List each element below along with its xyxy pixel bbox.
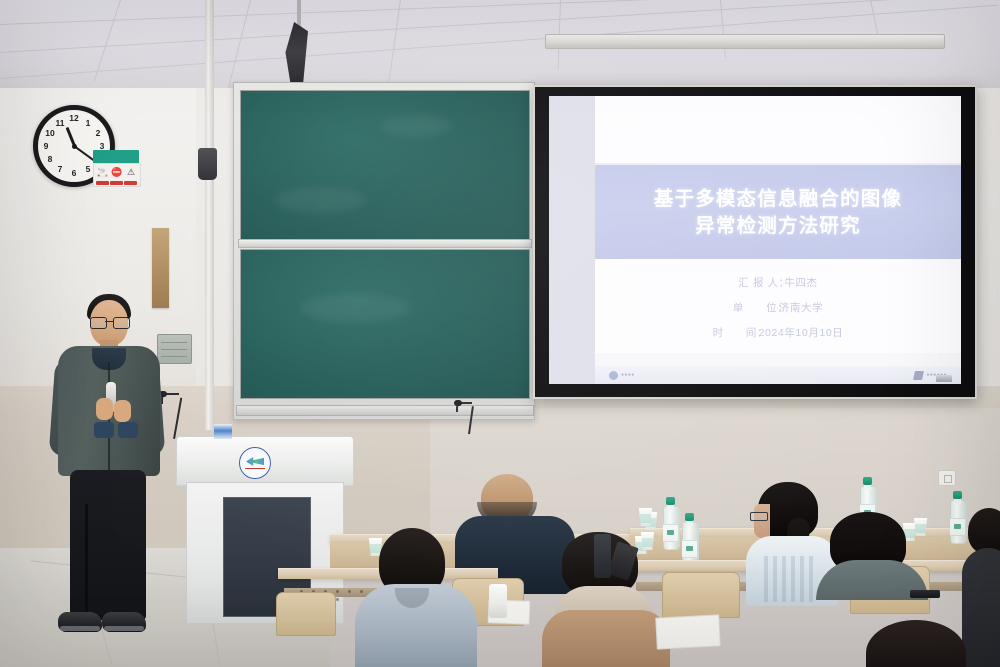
dark-tumbler — [594, 534, 611, 578]
wall-conduit — [205, 0, 214, 430]
presenter-cuff — [94, 422, 114, 438]
projection-screen: 基于多模态信息融合的图像 异常检测方法研究 汇 报 人： 牛四杰 单 位： 济南… — [533, 85, 977, 399]
university-logo-icon: ●●●● — [609, 371, 635, 380]
presenter-glasses — [90, 317, 128, 327]
wall-speaker — [198, 148, 217, 180]
slide-meta-row: 汇 报 人： 牛四杰 — [595, 275, 961, 290]
slide-meta-value: 济南大学 — [779, 300, 823, 315]
thermos-bottle — [489, 584, 507, 618]
presenter-shoe — [102, 612, 146, 632]
chair-back — [276, 592, 336, 636]
slide-title-line-1: 基于多模态信息融合的图像 — [654, 190, 902, 210]
chalkboard-panel-lower — [240, 249, 530, 399]
slide-top-margin — [595, 96, 961, 163]
green-chalkboard — [233, 82, 535, 420]
slide-meta-label: 时 间： — [713, 325, 759, 340]
no-littering-icon: ⛔ — [111, 166, 123, 178]
presenter-shoe — [58, 612, 102, 632]
presenter-trousers — [70, 470, 146, 620]
tissue-box — [214, 424, 232, 439]
clock-numeral: 8 — [44, 155, 56, 164]
clock-numeral: 11 — [54, 119, 66, 128]
screen-ir-sensor — [936, 375, 952, 382]
sign-caption-bar — [96, 181, 109, 185]
clock-numeral: 9 — [40, 142, 52, 151]
slide-title-band: 基于多模态信息融合的图像 异常检测方法研究 — [595, 163, 961, 263]
clock-numeral: 12 — [68, 114, 80, 123]
sign-caption-bar — [110, 181, 123, 185]
lectern-top — [176, 436, 354, 486]
clock-center-pin — [72, 144, 77, 149]
chalk-tray — [236, 405, 534, 416]
presenter — [48, 290, 168, 640]
university-crest-icon — [239, 447, 271, 479]
clock-numeral: 6 — [68, 169, 80, 178]
slide-meta-label: 汇 报 人： — [738, 275, 784, 290]
wall-outlet[interactable] — [938, 470, 956, 486]
no-spitting-icon: ⚠ — [125, 166, 137, 178]
presenter-trouser-seam — [85, 504, 88, 618]
water-bottle — [682, 514, 697, 566]
audience-face-profile — [754, 504, 770, 538]
chair-back — [662, 572, 740, 618]
sign-header-band — [93, 150, 139, 164]
slide-meta-label: 单 位： — [733, 300, 779, 315]
slide-meta-value: 2024年10月10日 — [759, 325, 844, 340]
eyeglasses-icon — [750, 512, 768, 521]
sign-body: 🚬 ⛔ ⚠ — [93, 163, 141, 187]
clock-numeral: 2 — [92, 129, 104, 138]
slide-meta-value: 牛四杰 — [784, 275, 817, 290]
presenter-cuff — [118, 422, 138, 438]
slide-footer: ●●●● ●●●●●● — [595, 366, 961, 384]
audience-member-front-left — [355, 528, 475, 667]
presenter-hand — [96, 398, 113, 420]
clock-numeral: 7 — [54, 165, 66, 174]
screen-surface: 基于多模态信息融合的图像 异常检测方法研究 汇 报 人： 牛四杰 单 位： 济南… — [549, 96, 961, 384]
lecture-hall-photo: 12 1 2 3 4 5 6 7 8 9 10 11 🚬 ⛔ ⚠ — [0, 0, 1000, 667]
notebook-page — [655, 614, 721, 649]
clock-numeral: 10 — [44, 129, 56, 138]
screen-roller-housing — [545, 34, 945, 49]
chalkboard-panel-upper — [240, 90, 530, 240]
no-smoking-icon: 🚬 — [97, 166, 109, 178]
slide-meta-row: 时 间： 2024年10月10日 — [595, 325, 961, 340]
slide-meta-row: 单 位： 济南大学 — [595, 300, 961, 315]
chalkboard-divider-rail — [238, 239, 532, 248]
slide-meta-block: 汇 报 人： 牛四杰 单 位： 济南大学 时 间： 2024年10月10日 — [595, 259, 961, 353]
sign-caption-bar — [124, 181, 137, 185]
presenter-hand — [114, 400, 131, 422]
projected-slide: 基于多模态信息融合的图像 异常检测方法研究 汇 报 人： 牛四杰 单 位： 济南… — [595, 96, 961, 384]
smartphone[interactable] — [910, 590, 940, 598]
audience-member-bottom-right — [858, 620, 974, 667]
safety-notice-sign: 🚬 ⛔ ⚠ — [93, 150, 139, 185]
slide-title-line-2: 异常检测方法研究 — [695, 217, 861, 237]
clock-numeral: 1 — [82, 119, 94, 128]
gooseneck-microphone-secondary[interactable] — [454, 400, 480, 434]
